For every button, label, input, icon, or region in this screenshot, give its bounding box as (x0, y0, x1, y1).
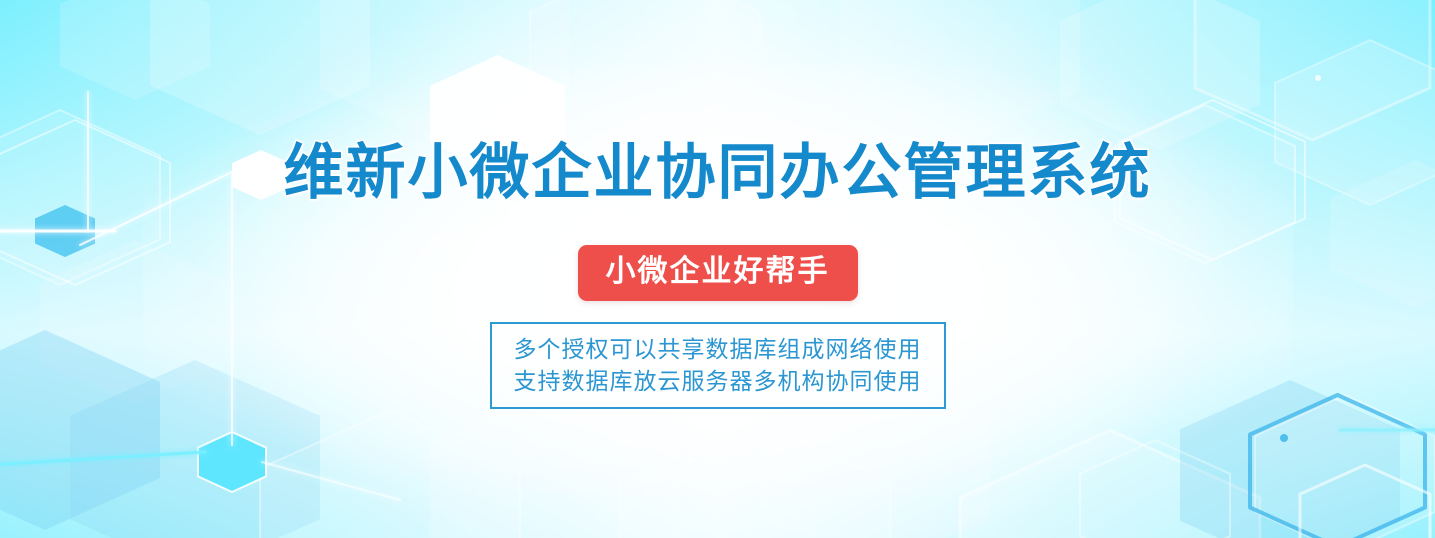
tagline-badge: 小微企业好帮手 (578, 245, 858, 301)
feature-info-line-1: 多个授权可以共享数据库组成网络使用 (514, 333, 922, 365)
feature-info-box: 多个授权可以共享数据库组成网络使用 支持数据库放云服务器多机构协同使用 (490, 322, 946, 409)
promo-banner: 维新小微企业协同办公管理系统 小微企业好帮手 多个授权可以共享数据库组成网络使用… (0, 0, 1435, 538)
banner-content: 维新小微企业协同办公管理系统 小微企业好帮手 多个授权可以共享数据库组成网络使用… (0, 0, 1435, 538)
feature-info-line-2: 支持数据库放云服务器多机构协同使用 (514, 365, 922, 397)
banner-title: 维新小微企业协同办公管理系统 (284, 139, 1152, 207)
